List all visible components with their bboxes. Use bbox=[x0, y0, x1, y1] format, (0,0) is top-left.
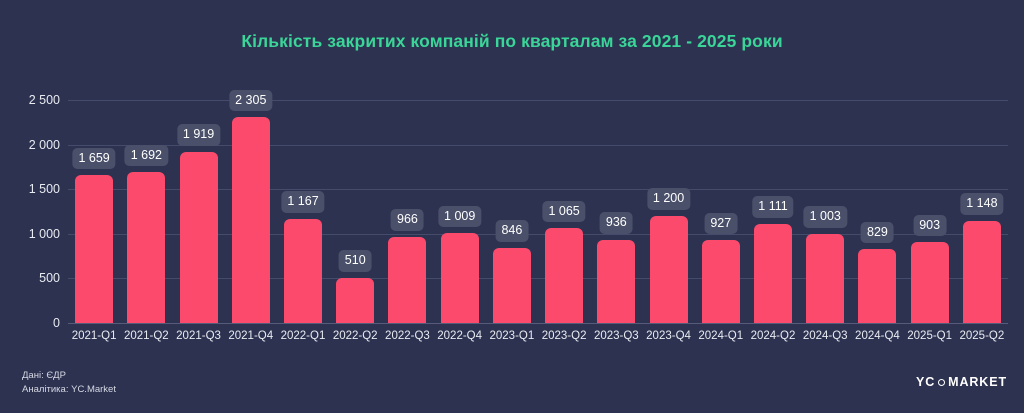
bar[interactable] bbox=[180, 152, 218, 323]
bar-group[interactable]: 1 659 bbox=[75, 100, 113, 323]
x-axis-tick-label: 2022-Q3 bbox=[381, 330, 433, 342]
x-axis-tick-label: 2023-Q1 bbox=[486, 330, 538, 342]
x-axis-tick-label: 2023-Q3 bbox=[590, 330, 642, 342]
bar-value-label: 1 200 bbox=[647, 188, 690, 210]
bar-value-label: 927 bbox=[704, 213, 737, 235]
bar[interactable] bbox=[963, 221, 1001, 323]
bar[interactable] bbox=[702, 240, 740, 323]
bar[interactable] bbox=[441, 233, 479, 323]
bar-group[interactable]: 966 bbox=[388, 100, 426, 323]
brand-logo: YC MARKET bbox=[916, 375, 1007, 389]
bar-group[interactable]: 1 692 bbox=[127, 100, 165, 323]
bar-group[interactable]: 1 065 bbox=[545, 100, 583, 323]
bar-group[interactable]: 846 bbox=[493, 100, 531, 323]
bar[interactable] bbox=[284, 219, 322, 323]
x-axis-tick-label: 2025-Q1 bbox=[904, 330, 956, 342]
bar-group[interactable]: 2 305 bbox=[232, 100, 270, 323]
x-axis-tick-label: 2024-Q2 bbox=[747, 330, 799, 342]
bar[interactable] bbox=[336, 278, 374, 323]
bar-value-label: 510 bbox=[339, 250, 372, 272]
bar-group[interactable]: 936 bbox=[597, 100, 635, 323]
bar-value-label: 1 919 bbox=[177, 124, 220, 146]
bar-group[interactable]: 1 009 bbox=[441, 100, 479, 323]
bar-value-label: 1 065 bbox=[542, 201, 585, 223]
bar[interactable] bbox=[232, 117, 270, 323]
bar-value-label: 936 bbox=[600, 212, 633, 234]
bar-group[interactable]: 829 bbox=[858, 100, 896, 323]
bar-value-label: 1 009 bbox=[438, 206, 481, 228]
bar-value-label: 1 692 bbox=[125, 145, 168, 167]
bar-value-label: 1 148 bbox=[960, 193, 1003, 215]
bar[interactable] bbox=[806, 234, 844, 323]
bar-group[interactable]: 1 111 bbox=[754, 100, 792, 323]
bar[interactable] bbox=[911, 242, 949, 323]
bar-value-label: 1 167 bbox=[281, 191, 324, 213]
bar[interactable] bbox=[650, 216, 688, 323]
x-axis-tick-label: 2024-Q3 bbox=[799, 330, 851, 342]
bar[interactable] bbox=[493, 248, 531, 323]
x-axis-tick-label: 2024-Q1 bbox=[695, 330, 747, 342]
bars-container: 1 6591 6921 9192 3051 1675109661 0098461… bbox=[68, 100, 1008, 323]
bar-group[interactable]: 1 200 bbox=[650, 100, 688, 323]
gridline bbox=[68, 323, 1008, 324]
y-axis-tick-label: 0 bbox=[0, 316, 60, 330]
x-axis-tick-label: 2021-Q3 bbox=[172, 330, 224, 342]
bar-group[interactable]: 903 bbox=[911, 100, 949, 323]
x-axis-tick-label: 2025-Q2 bbox=[956, 330, 1008, 342]
x-axis-tick-label: 2023-Q2 bbox=[538, 330, 590, 342]
bar-value-label: 1 003 bbox=[804, 206, 847, 228]
brand-suffix: MARKET bbox=[948, 375, 1007, 389]
x-axis: 2021-Q12021-Q22021-Q32021-Q42022-Q12022-… bbox=[68, 330, 1008, 348]
data-source-note: Дані: ЄДР bbox=[22, 369, 116, 383]
bar-value-label: 1 659 bbox=[72, 148, 115, 170]
x-axis-tick-label: 2022-Q1 bbox=[277, 330, 329, 342]
brand-prefix: YC bbox=[916, 375, 935, 389]
brand-dot-icon bbox=[938, 379, 945, 386]
x-axis-tick-label: 2021-Q1 bbox=[68, 330, 120, 342]
x-axis-tick-label: 2022-Q4 bbox=[434, 330, 486, 342]
bar-group[interactable]: 1 003 bbox=[806, 100, 844, 323]
analytics-note: Аналітика: YC.Market bbox=[22, 383, 116, 397]
x-axis-tick-label: 2023-Q4 bbox=[642, 330, 694, 342]
footer-notes: Дані: ЄДР Аналітика: YC.Market bbox=[22, 369, 116, 397]
bar-value-label: 1 111 bbox=[752, 196, 793, 218]
y-axis: 05001 0001 5002 0002 500 bbox=[0, 100, 60, 323]
x-axis-tick-label: 2021-Q4 bbox=[225, 330, 277, 342]
bar[interactable] bbox=[597, 240, 635, 323]
bar[interactable] bbox=[127, 172, 165, 323]
bar-value-label: 846 bbox=[495, 220, 528, 242]
bar[interactable] bbox=[858, 249, 896, 323]
y-axis-tick-label: 2 000 bbox=[0, 138, 60, 152]
bar-group[interactable]: 1 148 bbox=[963, 100, 1001, 323]
bar[interactable] bbox=[545, 228, 583, 323]
x-axis-tick-label: 2022-Q2 bbox=[329, 330, 381, 342]
bar-group[interactable]: 1 919 bbox=[180, 100, 218, 323]
page-title: Кількість закритих компаній по кварталам… bbox=[0, 31, 1024, 52]
bar[interactable] bbox=[388, 237, 426, 323]
y-axis-tick-label: 1 000 bbox=[0, 227, 60, 241]
y-axis-tick-label: 2 500 bbox=[0, 93, 60, 107]
bar-value-label: 2 305 bbox=[229, 90, 272, 112]
bar-value-label: 966 bbox=[391, 209, 424, 231]
x-axis-tick-label: 2024-Q4 bbox=[851, 330, 903, 342]
x-axis-tick-label: 2021-Q2 bbox=[120, 330, 172, 342]
bar[interactable] bbox=[754, 224, 792, 323]
bar-value-label: 903 bbox=[913, 215, 946, 237]
y-axis-tick-label: 500 bbox=[0, 271, 60, 285]
y-axis-tick-label: 1 500 bbox=[0, 182, 60, 196]
bar[interactable] bbox=[75, 175, 113, 323]
bar-group[interactable]: 510 bbox=[336, 100, 374, 323]
bar-group[interactable]: 1 167 bbox=[284, 100, 322, 323]
bar-value-label: 829 bbox=[861, 222, 894, 244]
bar-group[interactable]: 927 bbox=[702, 100, 740, 323]
